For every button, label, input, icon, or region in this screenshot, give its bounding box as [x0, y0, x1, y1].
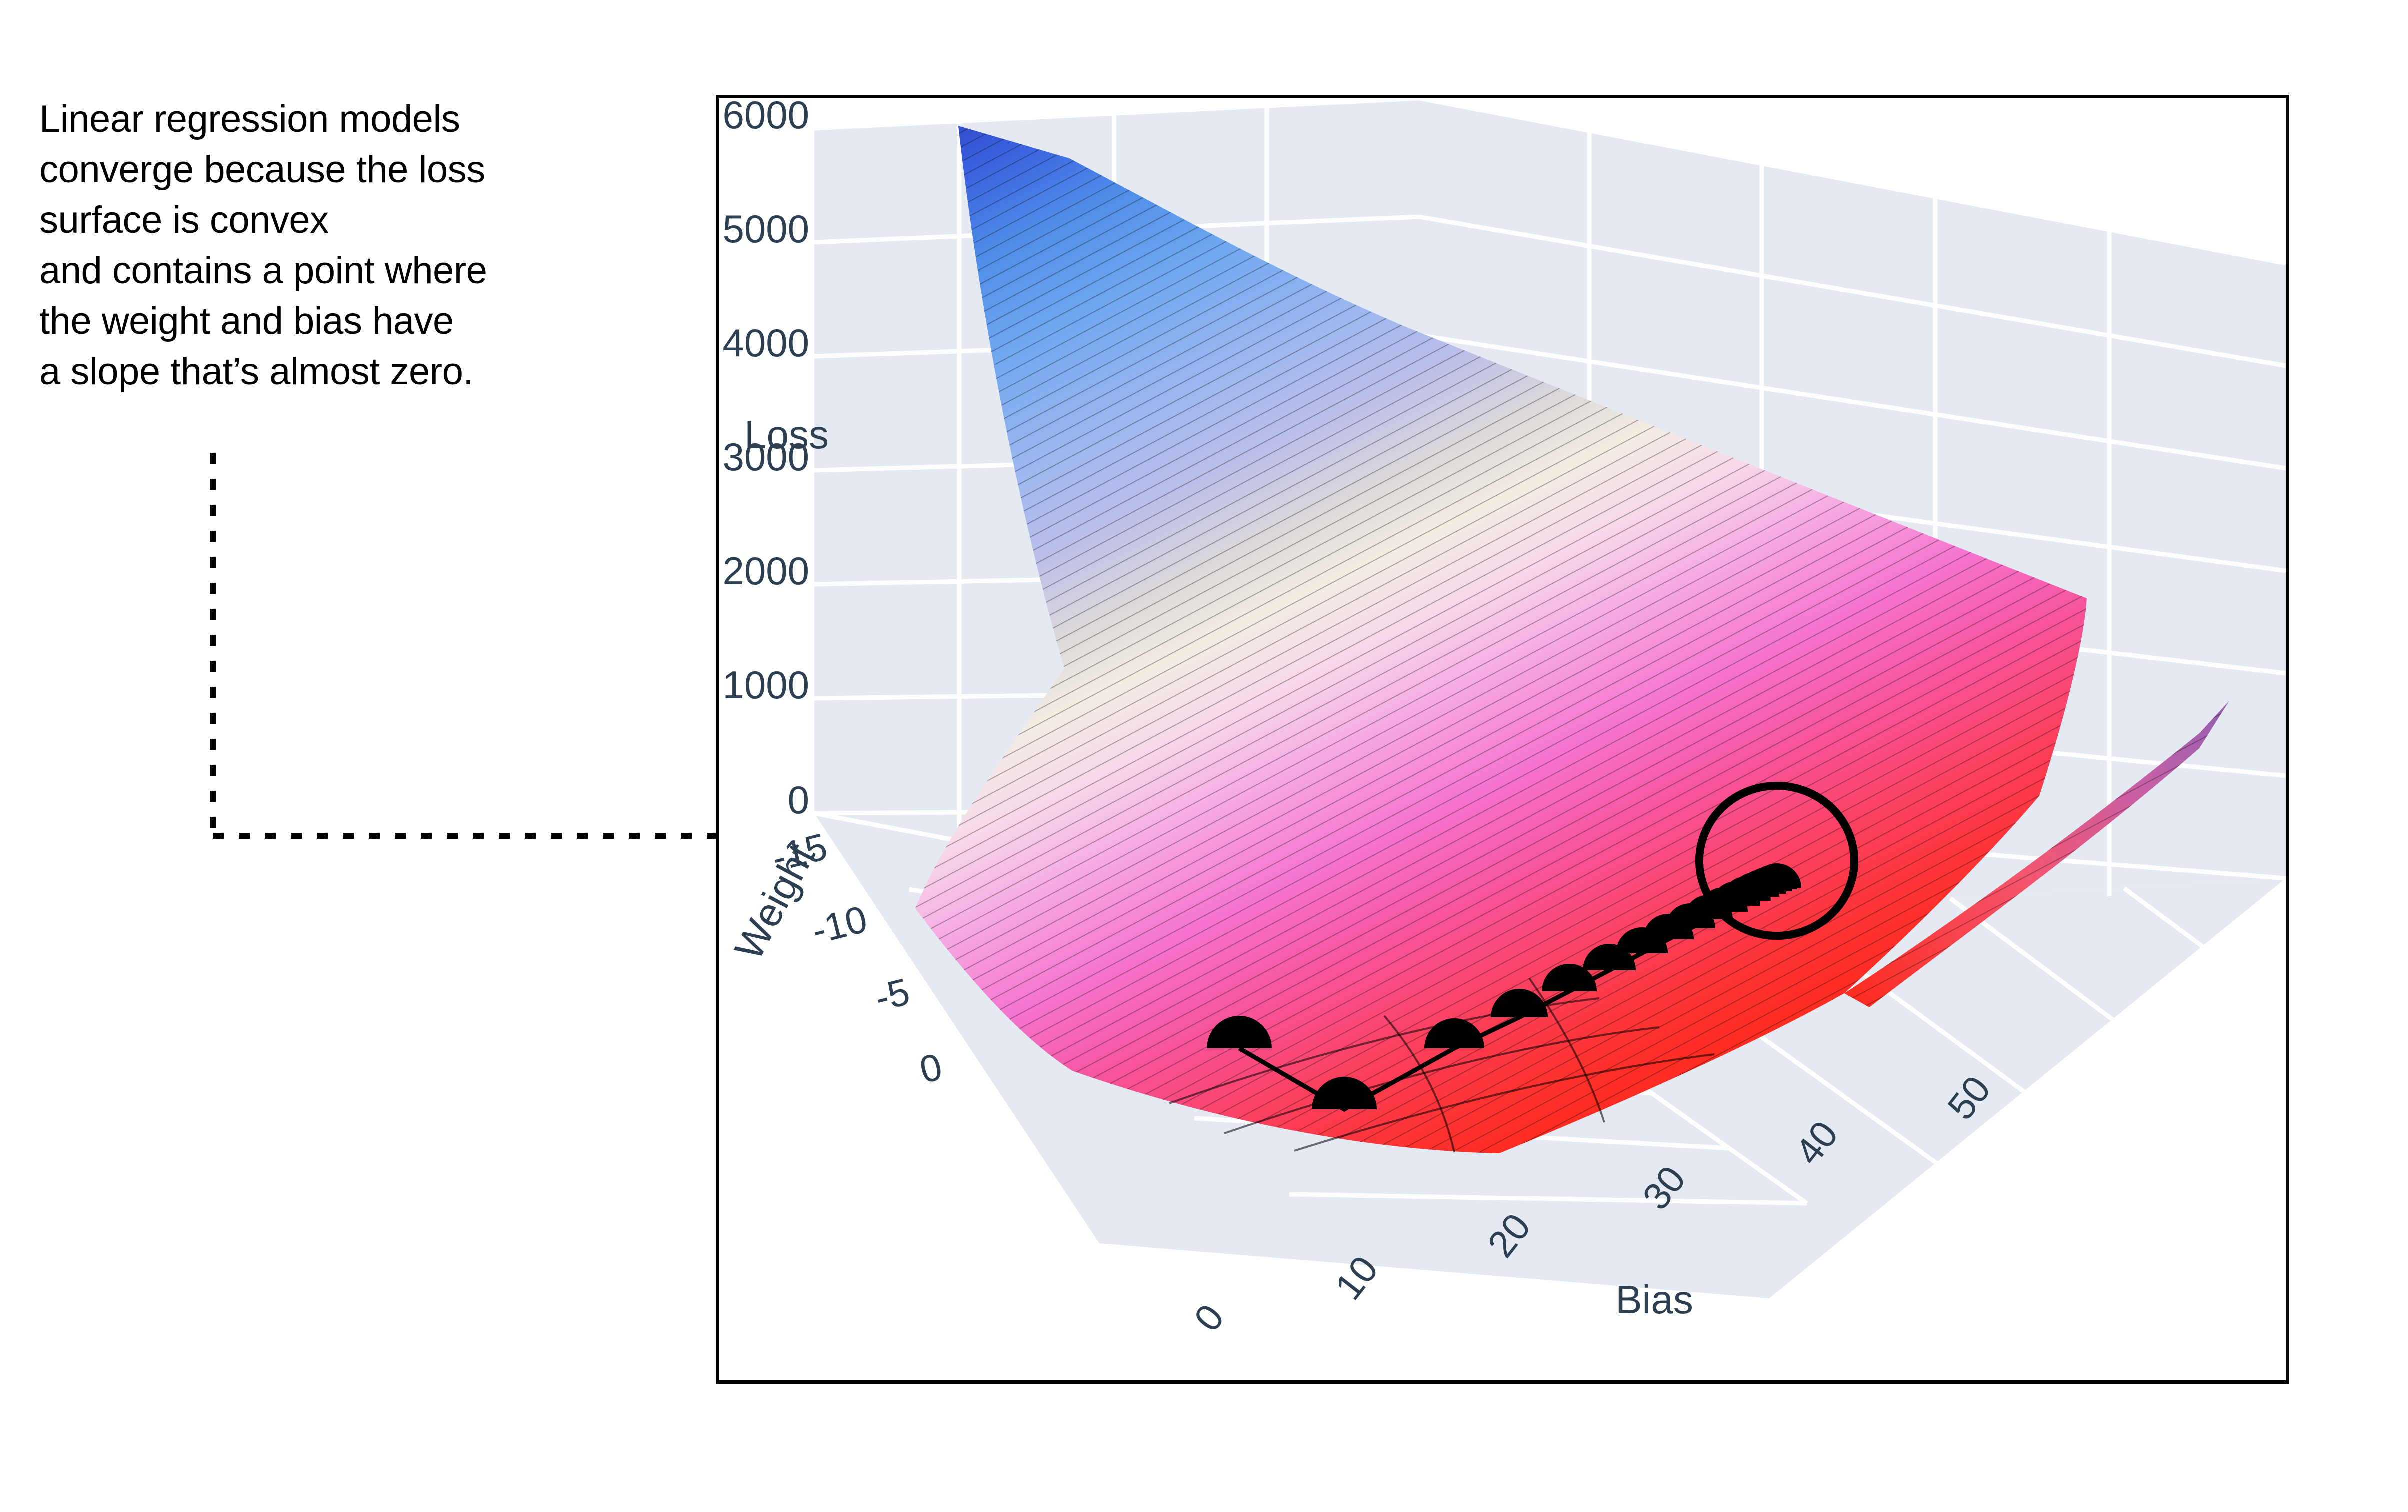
z-axis-title: Loss [744, 412, 829, 457]
z-tick-label: 1000 [722, 663, 809, 707]
z-tick-label: 2000 [722, 549, 809, 593]
y-tick-label: -10 [808, 898, 871, 952]
x-axis-title: Bias [1615, 1277, 1693, 1322]
y-tick-label: 0 [916, 1045, 947, 1092]
z-tick-label: 5000 [722, 207, 809, 251]
y-axis-title: Weight [726, 837, 823, 967]
y-tick-label: -5 [871, 970, 914, 1020]
annotation-text: Linear regression models converge becaus… [39, 94, 664, 397]
z-tick-label: 0 [788, 778, 809, 822]
plot-canvas: 6000 5000 4000 3000 2000 1000 0 Loss -15… [719, 98, 2286, 1380]
z-tick-label: 4000 [722, 321, 809, 365]
z-tick-labels: 6000 5000 4000 3000 2000 1000 0 [722, 98, 809, 822]
z-tick-label: 6000 [722, 98, 809, 137]
loss-surface-plot: 6000 5000 4000 3000 2000 1000 0 Loss -15… [716, 95, 2289, 1384]
x-tick-label: 0 [1186, 1296, 1232, 1339]
